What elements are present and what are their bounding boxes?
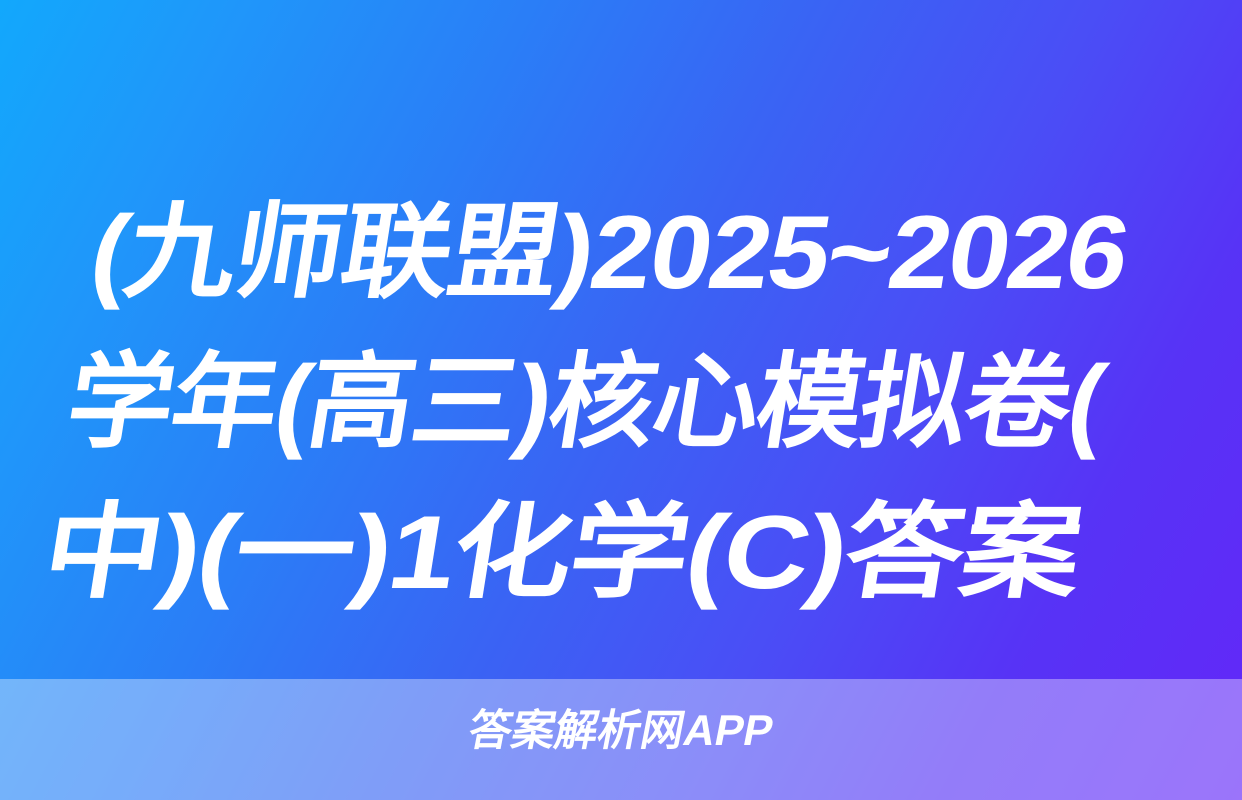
- answer-card: (九师联盟)2025~2026 学年(高三)核心模拟卷( 中)(一)1化学(C)…: [0, 0, 1242, 800]
- title-line-1: (九师联盟)2025~2026: [80, 178, 1196, 328]
- footer-watermark: 答案解析网APP: [0, 706, 1242, 756]
- title-line-2: 学年(高三)核心模拟卷(: [56, 328, 1132, 478]
- title-line-3: 中)(一)1化学(C)答案: [33, 478, 1239, 628]
- page-title: (九师联盟)2025~2026 学年(高三)核心模拟卷( 中)(一)1化学(C)…: [0, 178, 1242, 628]
